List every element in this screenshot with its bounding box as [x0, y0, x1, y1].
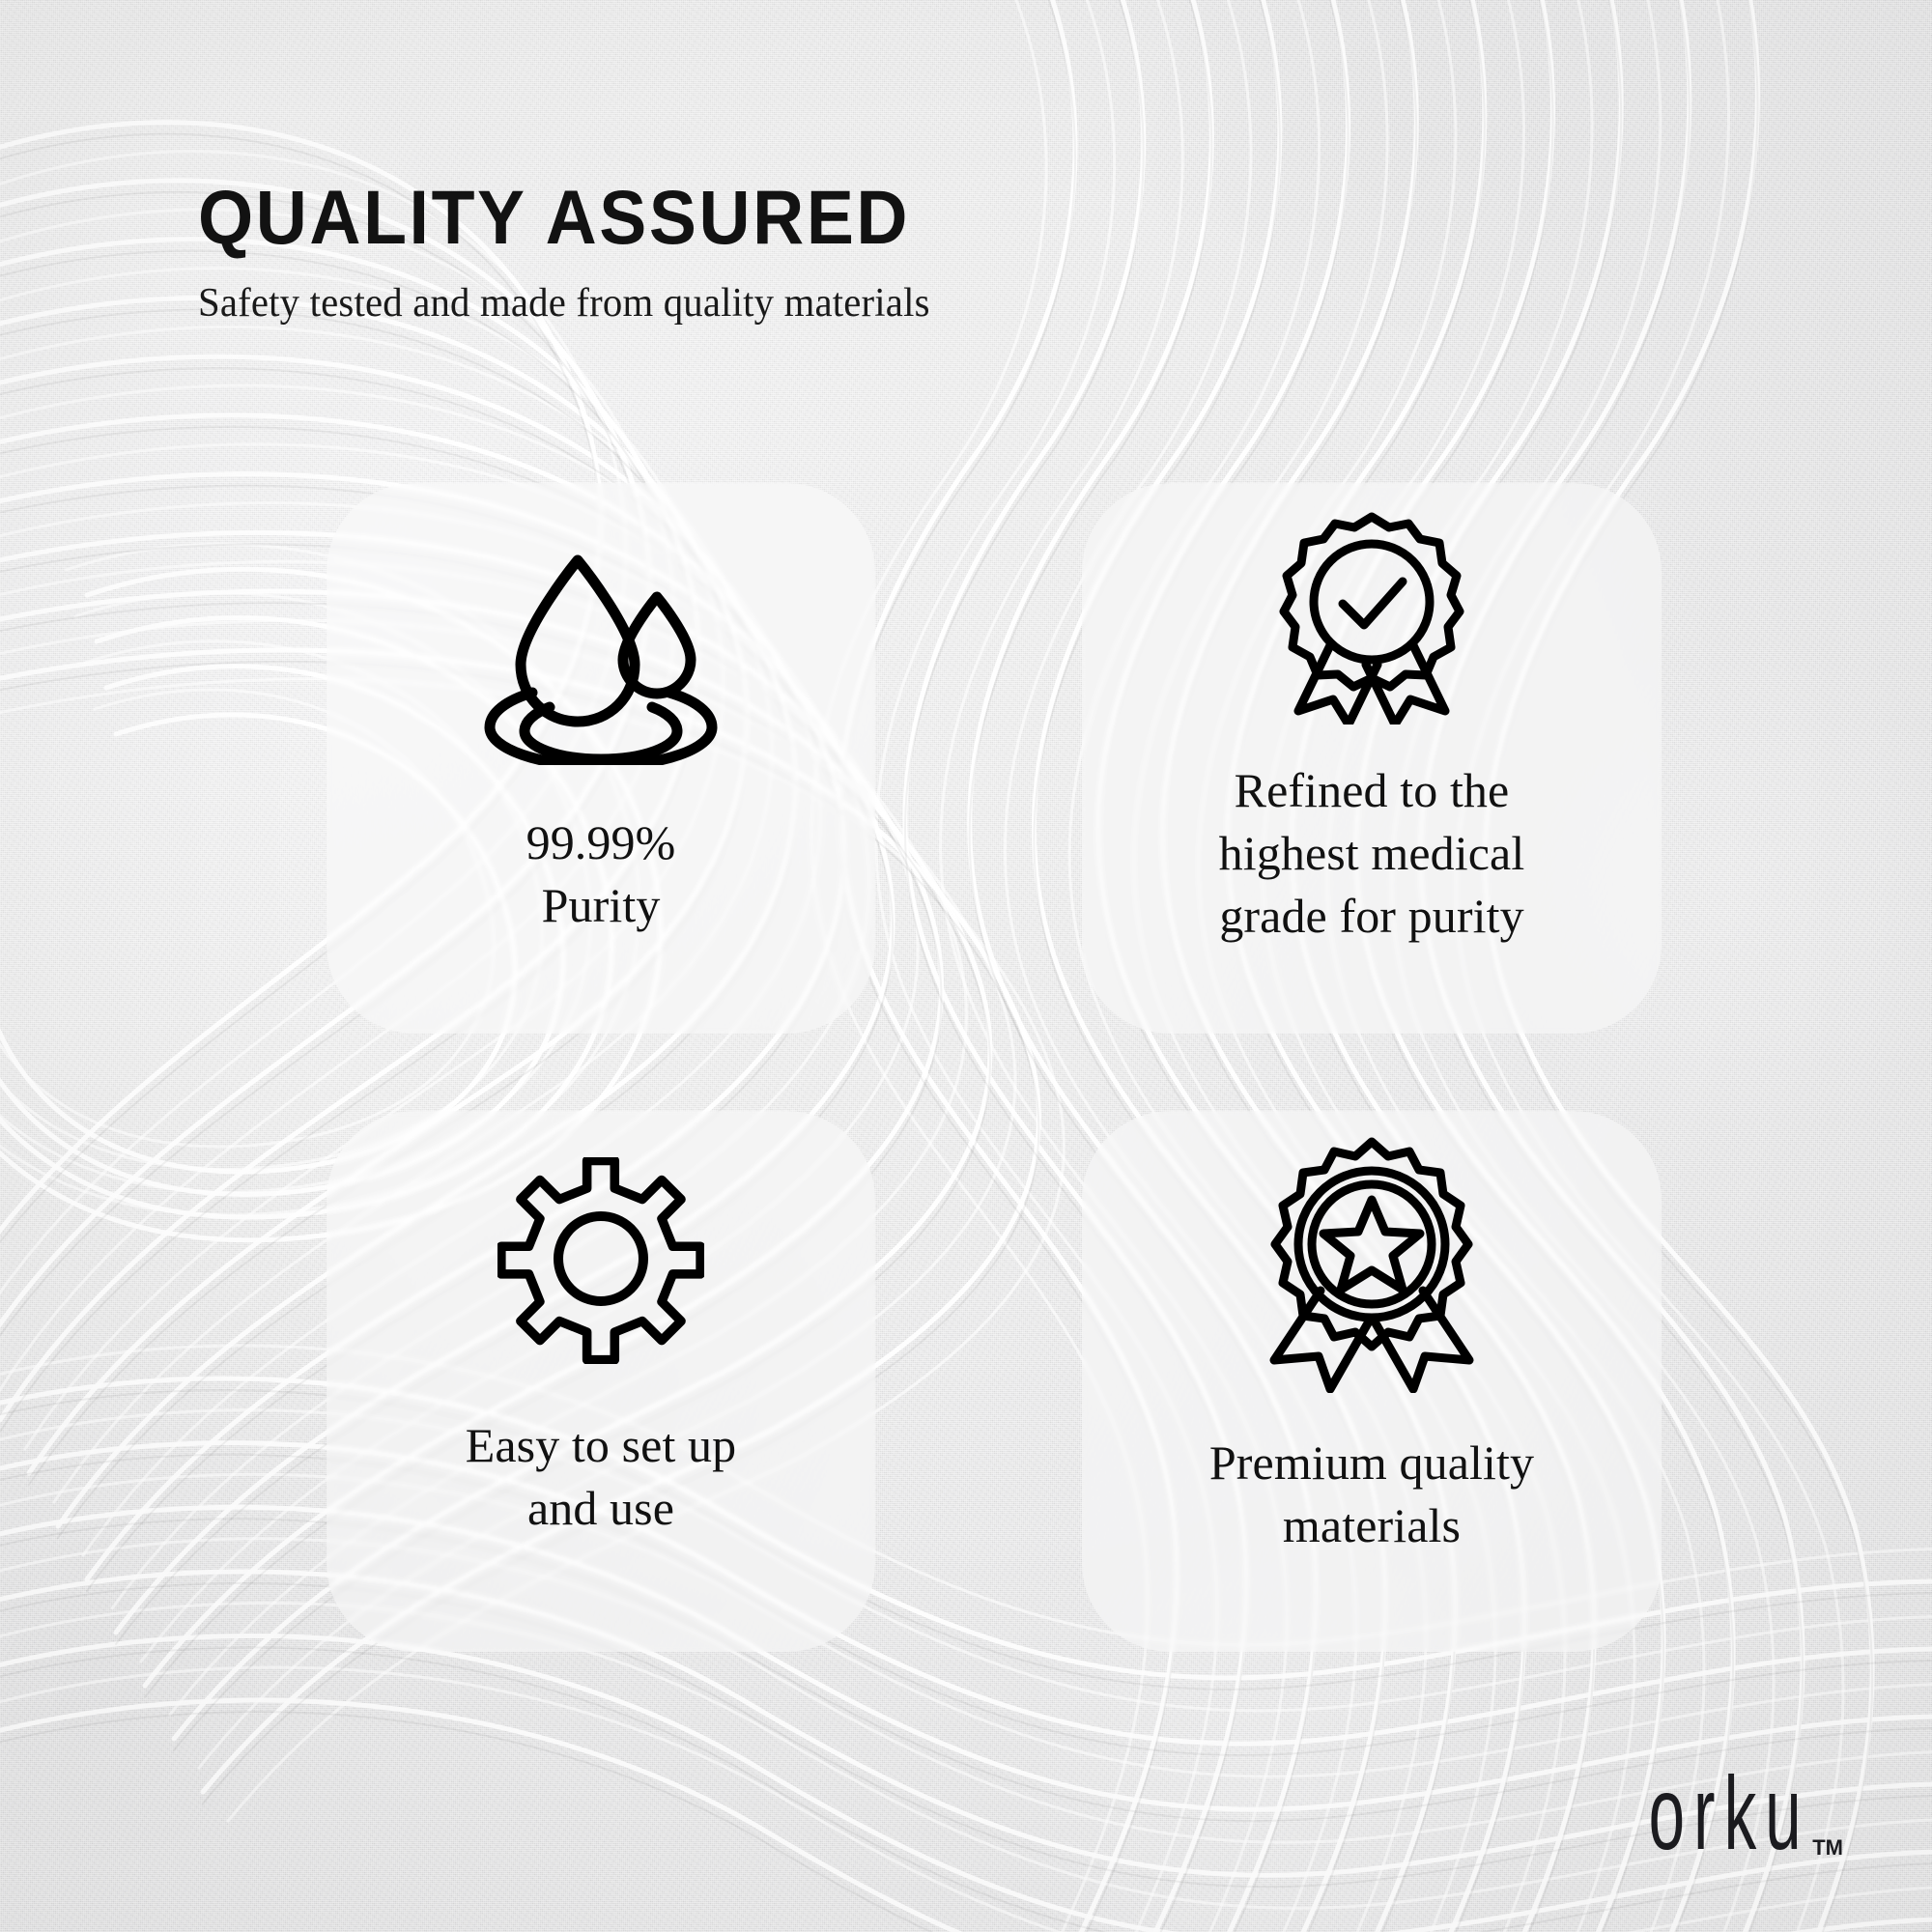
feature-card-purity: 99.99% Purity: [327, 483, 875, 1034]
feature-card-medical-grade-line3: grade for purity: [1107, 885, 1636, 948]
header-block: QUALITY ASSURED Safety tested and made f…: [198, 179, 1357, 327]
page-subtitle: Safety tested and made from quality mate…: [198, 280, 1322, 327]
infographic-canvas: QUALITY ASSURED Safety tested and made f…: [0, 0, 1932, 1932]
feature-card-medical-grade-line2: highest medical: [1107, 822, 1636, 885]
trademark-symbol: TM: [1812, 1835, 1843, 1861]
feature-card-easy-setup-line1: Easy to set up: [352, 1414, 850, 1477]
star-medal-badge-icon: [1082, 1136, 1662, 1393]
gear-icon: [327, 1157, 875, 1364]
feature-card-grid: 99.99% Purity: [290, 483, 1662, 1652]
feature-card-purity-line2: Purity: [352, 874, 850, 937]
feature-card-medical-grade-line1: Refined to the: [1107, 759, 1636, 822]
water-droplet-ripple-icon: [327, 541, 875, 765]
feature-card-medical-grade-text: Refined to the highest medical grade for…: [1082, 759, 1662, 948]
feature-card-premium-materials-line1: Premium quality: [1107, 1432, 1636, 1494]
feature-card-easy-setup-line2: and use: [352, 1477, 850, 1540]
feature-card-premium-materials-text: Premium quality materials: [1082, 1432, 1662, 1557]
feature-card-purity-line1: 99.99%: [352, 811, 850, 874]
feature-card-purity-text: 99.99% Purity: [327, 811, 875, 937]
brand-logo: orku TM: [1579, 1774, 1843, 1866]
page-title: QUALITY ASSURED: [198, 179, 1276, 257]
brand-wordmark: orku: [1649, 1762, 1810, 1866]
feature-card-easy-setup-text: Easy to set up and use: [327, 1414, 875, 1540]
feature-card-medical-grade: Refined to the highest medical grade for…: [1082, 483, 1662, 1034]
feature-card-premium-materials-line2: materials: [1107, 1494, 1636, 1557]
check-rosette-badge-icon: [1082, 510, 1662, 724]
feature-card-easy-setup: Easy to set up and use: [327, 1111, 875, 1652]
feature-card-premium-materials: Premium quality materials: [1082, 1111, 1662, 1652]
